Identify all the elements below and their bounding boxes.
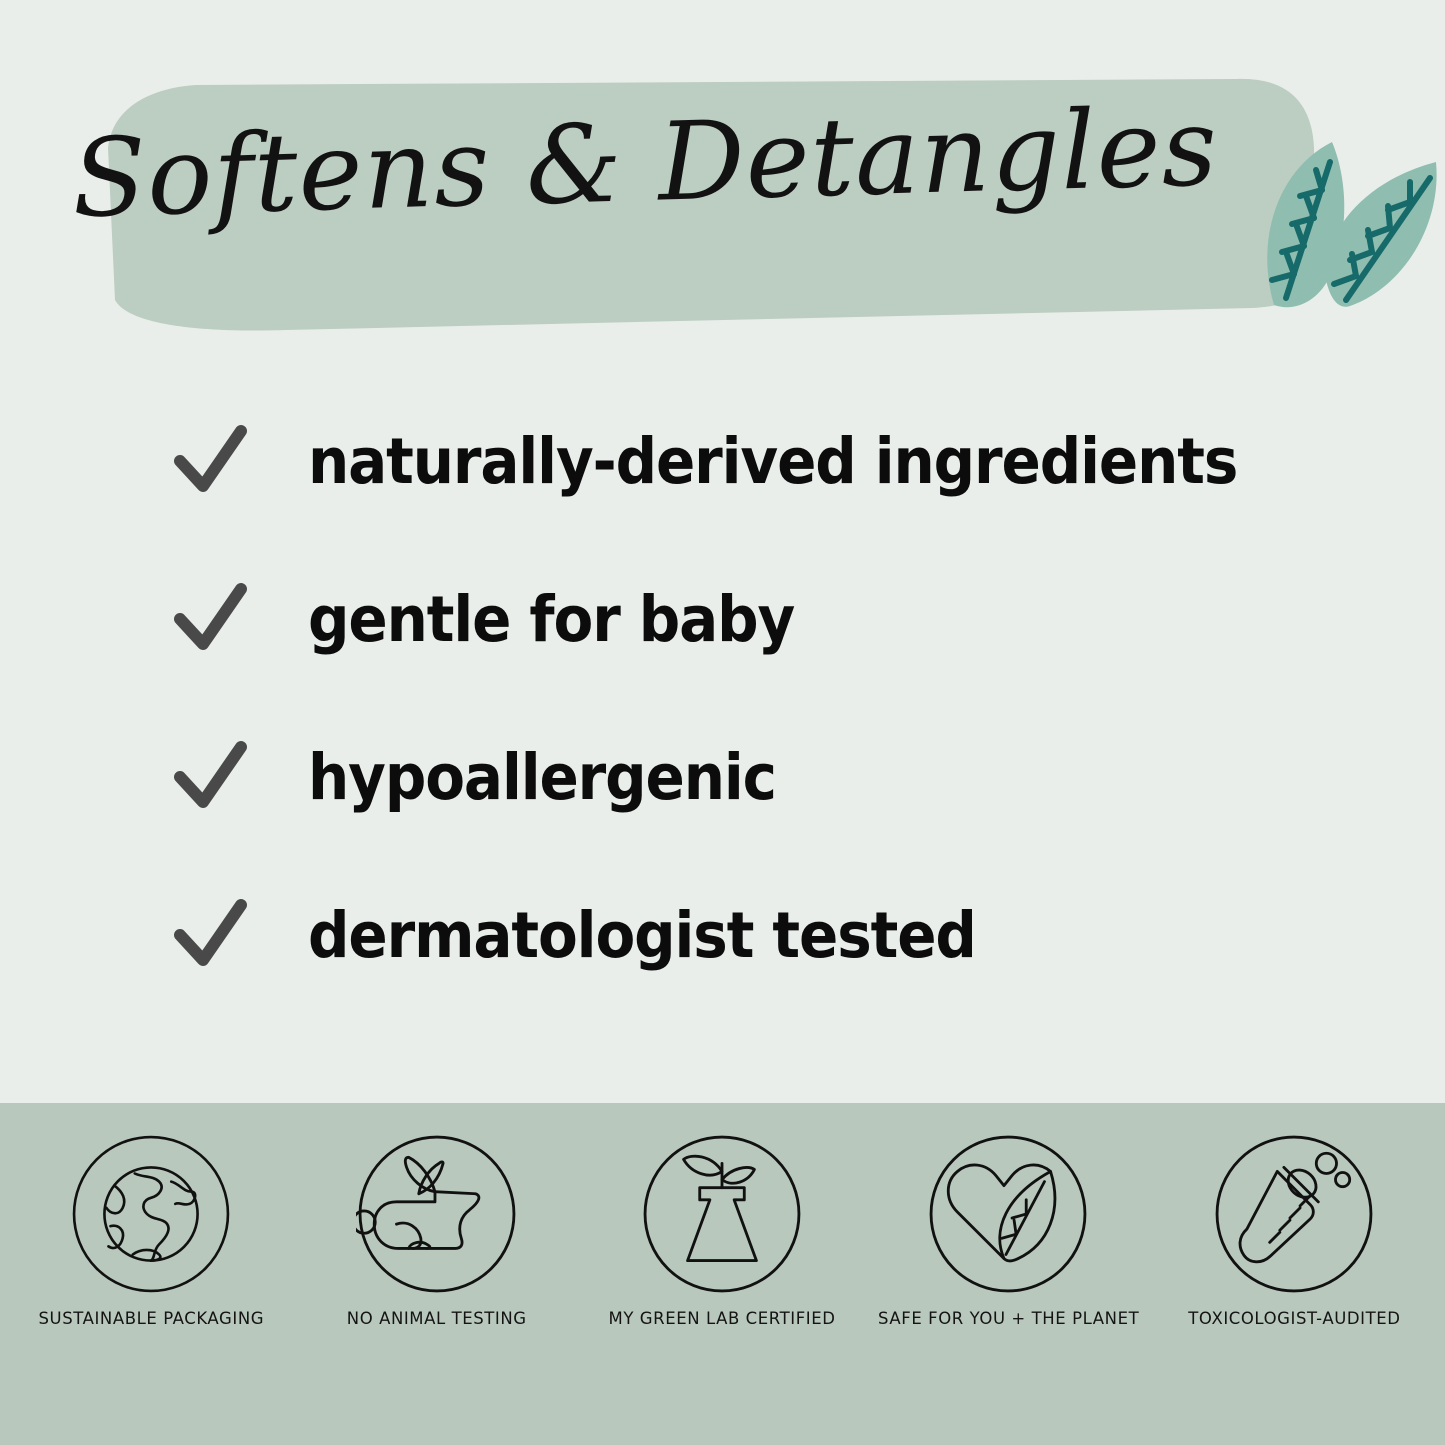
list-item: gentle for baby (0, 540, 1445, 698)
globe-icon (70, 1133, 232, 1295)
header-banner: Softens & Detangles (0, 0, 1445, 370)
badge-label: SAFE FOR YOU + THE PLANET (878, 1309, 1139, 1329)
check-icon (172, 423, 248, 499)
badge-label: MY GREEN LAB CERTIFIED (609, 1309, 836, 1329)
badge-label: TOXICOLOGIST-AUDITED (1188, 1309, 1400, 1329)
badge-safe-for-you-and-planet: SAFE FOR YOU + THE PLANET (865, 1103, 1151, 1329)
badge-label: SUSTAINABLE PACKAGING (38, 1309, 264, 1329)
list-item: naturally-derived ingredients (0, 382, 1445, 540)
badge-toxicologist-audited: TOXICOLOGIST-AUDITED (1151, 1103, 1437, 1329)
list-item-label: gentle for baby (308, 588, 794, 651)
check-icon (172, 897, 248, 973)
list-item-label: hypoallergenic (308, 746, 776, 809)
test-tube-icon (1213, 1133, 1375, 1295)
list-item-label: dermatologist tested (308, 904, 976, 967)
bunny-icon (356, 1133, 518, 1295)
list-item: hypoallergenic (0, 698, 1445, 856)
check-icon (172, 581, 248, 657)
product-benefits-infographic: Softens & Detangles naturally-derived in… (0, 0, 1445, 1445)
benefits-checklist: naturally-derived ingredients gentle for… (0, 382, 1445, 1014)
badge-my-green-lab-certified: MY GREEN LAB CERTIFIED (580, 1103, 866, 1329)
banner-brushstroke-shape (0, 0, 1445, 370)
badge-sustainable-packaging: SUSTAINABLE PACKAGING (8, 1103, 294, 1329)
heart-leaf-icon (927, 1133, 1089, 1295)
flask-plant-icon (641, 1133, 803, 1295)
certification-badge-bar: SUSTAINABLE PACKAGING (0, 1103, 1445, 1445)
list-item-label: naturally-derived ingredients (308, 430, 1237, 493)
list-item: dermatologist tested (0, 856, 1445, 1014)
check-icon (172, 739, 248, 815)
badge-no-animal-testing: NO ANIMAL TESTING (294, 1103, 580, 1329)
badge-label: NO ANIMAL TESTING (347, 1309, 527, 1329)
